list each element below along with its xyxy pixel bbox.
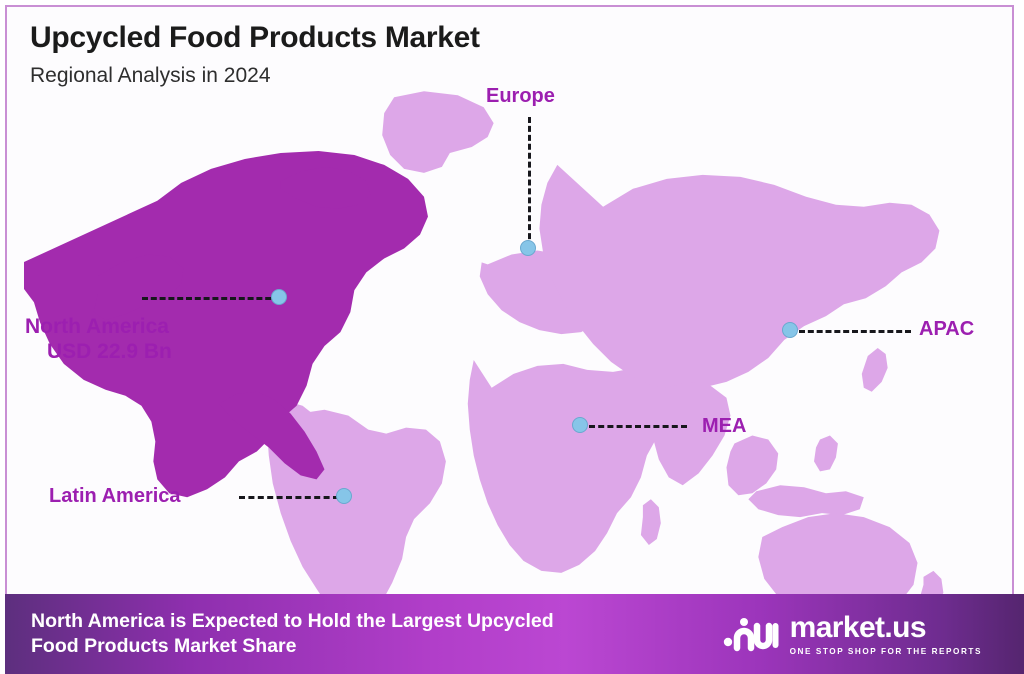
page-title: Upcycled Food Products Market (30, 21, 480, 56)
map-marker-north-america[interactable] (271, 289, 287, 305)
region-value-north-america: USD 22.9 Bn (47, 340, 172, 365)
region-label-mea: MEA (702, 415, 746, 439)
logo-name: market.us (790, 613, 926, 643)
map-marker-apac[interactable] (782, 322, 798, 338)
region-label-north-america-name: North America (25, 315, 169, 338)
logo-tagline: ONE STOP SHOP FOR THE REPORTS (790, 647, 982, 656)
leader-line-europe (528, 117, 531, 248)
region-philippines (814, 436, 838, 472)
header: Upcycled Food Products Market Regional A… (30, 21, 480, 88)
banner-headline: North America is Expected to Hold the La… (31, 609, 554, 659)
leader-line-apac (799, 330, 911, 333)
leader-line-north-america (142, 297, 280, 300)
region-label-apac: APAC (919, 318, 974, 342)
map-marker-europe[interactable] (520, 240, 536, 256)
region-indonesia (748, 485, 863, 517)
page-subtitle: Regional Analysis in 2024 (30, 64, 480, 88)
region-southeast-asia (726, 436, 778, 496)
banner-headline-line1: North America is Expected to Hold the La… (31, 609, 554, 634)
banner-headline-line2: Food Products Market Share (31, 634, 554, 659)
region-japan (862, 348, 888, 392)
logo-text-block: market.us ONE STOP SHOP FOR THE REPORTS (790, 613, 982, 656)
map-marker-mea[interactable] (572, 417, 588, 433)
infographic-root: Upcycled Food Products Market Regional A… (0, 0, 1024, 674)
bottom-banner: North America is Expected to Hold the La… (5, 594, 1024, 674)
market-us-logo[interactable]: market.us ONE STOP SHOP FOR THE REPORTS (723, 612, 982, 656)
region-greenland (382, 91, 493, 173)
map-marker-latin-america[interactable] (336, 488, 352, 504)
region-australia (758, 513, 917, 600)
leader-line-mea (589, 425, 687, 428)
world-map-svg (24, 88, 1014, 600)
leader-line-latin-america (239, 496, 339, 499)
infographic-frame: Upcycled Food Products Market Regional A… (5, 5, 1014, 669)
region-label-north-america: North America USD 22.9 Bn (25, 315, 172, 365)
region-madagascar (641, 499, 661, 545)
region-label-latin-america: Latin America (49, 485, 181, 509)
market-us-bars-logo-icon (723, 612, 779, 656)
region-label-europe: Europe (486, 85, 555, 109)
